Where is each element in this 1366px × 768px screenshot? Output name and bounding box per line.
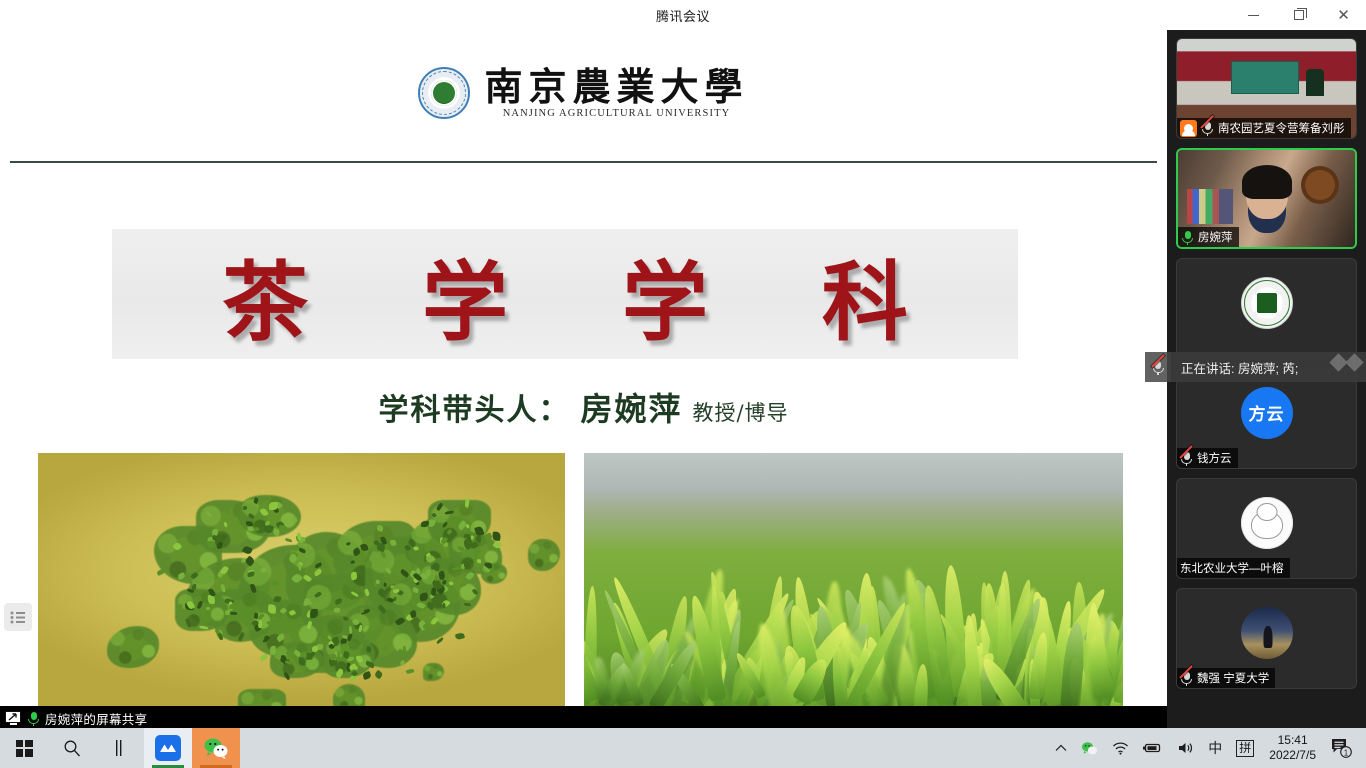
participant-avatar [1241, 497, 1293, 549]
share-mic-icon [27, 711, 40, 726]
tray-battery-icon[interactable] [1136, 728, 1170, 768]
china-tea-map-image [38, 453, 565, 706]
tea-leaf-speck [456, 632, 466, 640]
speaking-toast-text: 正在讲话: 房婉萍; 芮; [1181, 358, 1298, 377]
header-divider [10, 161, 1157, 163]
photo-china-tea-map [38, 453, 565, 706]
slide-header: 南京農業大學 NANJING AGRICULTURAL UNIVERSITY [0, 58, 1167, 128]
tea-leaf-speck [268, 604, 276, 613]
participant-name-bar: 钱方云 [1177, 448, 1238, 468]
task-view-button[interactable] [96, 728, 144, 768]
tea-leaf-cluster [238, 689, 285, 706]
mic-on-icon [1181, 230, 1194, 245]
taskbar: 中 拼 15:41 2022/7/5 1 [0, 728, 1366, 768]
university-emblem-icon [418, 67, 470, 119]
tea-leaf-speck [156, 569, 165, 576]
tea-leaf-speck [393, 597, 397, 601]
participant-tile[interactable]: 房婉萍 [1176, 148, 1357, 249]
tray-network-icon[interactable] [1105, 728, 1136, 768]
notification-icon: 1 [1330, 737, 1354, 759]
window-title: 腾讯会议 [656, 6, 710, 25]
participant-tile[interactable]: 东北农业大学—叶榕 [1176, 478, 1357, 579]
ime-pinyin-indicator[interactable]: 拼 [1229, 728, 1261, 768]
svg-text:1: 1 [1344, 748, 1349, 757]
tea-leaf-speck [365, 646, 371, 653]
tea-leaf-speck [285, 538, 292, 543]
title-bar: 腾讯会议 ✕ [0, 0, 1366, 30]
minimize-button[interactable] [1231, 0, 1276, 30]
participant-name: 魏强 宁夏大学 [1197, 670, 1269, 686]
windows-icon [16, 740, 33, 757]
participant-tile[interactable] [1176, 258, 1357, 359]
participant-tile[interactable]: 南农园艺夏令营筹备刘彤 [1176, 38, 1357, 139]
tea-leaf-speck [414, 594, 418, 598]
university-name: 南京農業大學 NANJING AGRICULTURAL UNIVERSITY [484, 67, 748, 120]
taskbar-app-wechat[interactable] [192, 728, 240, 768]
participant-avatar [1241, 607, 1293, 659]
toast-mic-icon [1145, 352, 1171, 382]
tea-leaf-cluster [423, 663, 444, 681]
tea-leaf-speck [225, 610, 230, 615]
tea-leaf-speck [309, 608, 317, 617]
participant-tile[interactable]: 方云钱方云 [1176, 368, 1357, 469]
slide-title-band: 茶 学 学 科 [112, 229, 1018, 359]
tea-leaf-speck [477, 559, 482, 563]
university-name-en: NANJING AGRICULTURAL UNIVERSITY [503, 108, 731, 119]
speaking-toast: 正在讲话: 房婉萍; 芮; [1145, 352, 1366, 382]
maximize-button[interactable] [1276, 0, 1321, 30]
tencent-meeting-icon [155, 735, 181, 761]
tray-wechat-icon[interactable] [1074, 728, 1105, 768]
toast-placeholder-glyphs [1332, 356, 1361, 369]
screen-share-indicator: 房婉萍的屏幕共享 [0, 706, 1167, 730]
participant-name: 钱方云 [1197, 450, 1232, 466]
participant-name-bar: 房婉萍 [1178, 227, 1239, 247]
tea-field-image [584, 453, 1123, 706]
participant-name-bar: 南农园艺夏令营筹备刘彤 [1177, 118, 1351, 138]
screen-icon [5, 711, 22, 726]
participant-avatar: 方云 [1241, 387, 1293, 439]
notification-center-button[interactable]: 1 [1324, 728, 1362, 768]
university-name-cn: 南京農業大學 [484, 67, 748, 107]
tea-leaf-speck [247, 526, 253, 532]
meeting-window: 腾讯会议 ✕ 南京農業大學 NANJING AGRICULTURAL UNIVE… [0, 0, 1366, 768]
tea-leaf-speck [217, 633, 222, 640]
share-label: 房婉萍的屏幕共享 [45, 709, 147, 728]
clock-time: 15:41 [1269, 733, 1316, 748]
slide-subtitle: 学科带头人： 房婉萍 教授/博导 [0, 384, 1167, 430]
tea-leaf-speck [271, 614, 278, 621]
mic-muted-icon [1180, 451, 1193, 466]
slide-list-icon[interactable] [4, 603, 32, 631]
tea-leaf-cluster [528, 539, 560, 570]
tea-leaf-speck [464, 603, 471, 606]
speaking-toast-body: 正在讲话: 房婉萍; 芮; [1171, 352, 1366, 382]
tea-leaf-speck [296, 533, 300, 541]
tea-leaf-speck [269, 501, 278, 509]
tea-leaf-speck [362, 671, 372, 681]
system-tray: 中 拼 15:41 2022/7/5 1 [1048, 728, 1366, 768]
window-controls: ✕ [1231, 0, 1366, 30]
taskbar-clock[interactable]: 15:41 2022/7/5 [1261, 733, 1324, 763]
search-button[interactable] [48, 728, 96, 768]
subtitle-role: 教授/博导 [692, 397, 788, 427]
participant-name-bar: 魏强 宁夏大学 [1177, 668, 1275, 688]
taskbar-app-tencent-meeting[interactable] [144, 728, 192, 768]
participant-name: 房婉萍 [1198, 229, 1233, 245]
tea-leaf-cluster [333, 684, 365, 706]
tray-volume-icon[interactable] [1170, 728, 1201, 768]
tea-leaf-speck [442, 579, 447, 584]
close-icon: ✕ [1337, 8, 1350, 23]
tea-leaf-speck [260, 653, 269, 661]
maximize-icon [1294, 10, 1304, 20]
tea-leaf-cluster [107, 626, 160, 668]
host-badge-icon [1180, 120, 1197, 137]
tea-leaf-speck [318, 635, 322, 641]
tea-leaf-speck [375, 580, 380, 585]
tray-chevron-up-icon[interactable] [1048, 728, 1074, 768]
screen-share-stage: 南京農業大學 NANJING AGRICULTURAL UNIVERSITY 茶… [0, 30, 1167, 730]
participant-tile[interactable]: 魏强 宁夏大学 [1176, 588, 1357, 689]
participant-name: 东北农业大学—叶榕 [1180, 560, 1284, 576]
mic-muted-icon [1180, 671, 1193, 686]
presentation-slide: 南京農業大學 NANJING AGRICULTURAL UNIVERSITY 茶… [0, 30, 1167, 706]
close-button[interactable]: ✕ [1321, 0, 1366, 30]
tea-leaf-speck [406, 668, 415, 674]
slide-photos [0, 453, 1167, 706]
subtitle-name: 房婉萍 [580, 384, 682, 430]
start-button[interactable] [0, 728, 48, 768]
wechat-icon [203, 737, 229, 759]
slide-title: 茶 学 学 科 [180, 232, 950, 357]
photo-tea-field [584, 453, 1123, 706]
tea-leaf-speck [343, 617, 349, 621]
search-icon [63, 739, 81, 757]
participant-name-bar: 东北农业大学—叶榕 [1177, 558, 1290, 578]
tea-leaf-speck [374, 669, 384, 679]
mic-muted-icon [1201, 121, 1214, 136]
participant-avatar [1241, 277, 1293, 329]
task-view-icon [113, 740, 127, 756]
minimize-icon [1248, 15, 1259, 16]
clock-date: 2022/7/5 [1269, 748, 1316, 763]
tea-leaf-speck [346, 542, 350, 546]
tea-leaf-speck [298, 657, 306, 666]
participant-name: 南农园艺夏令营筹备刘彤 [1218, 120, 1345, 136]
ime-mode-indicator[interactable]: 中 [1201, 728, 1229, 768]
subtitle-lead: 学科带头人： [378, 385, 570, 429]
